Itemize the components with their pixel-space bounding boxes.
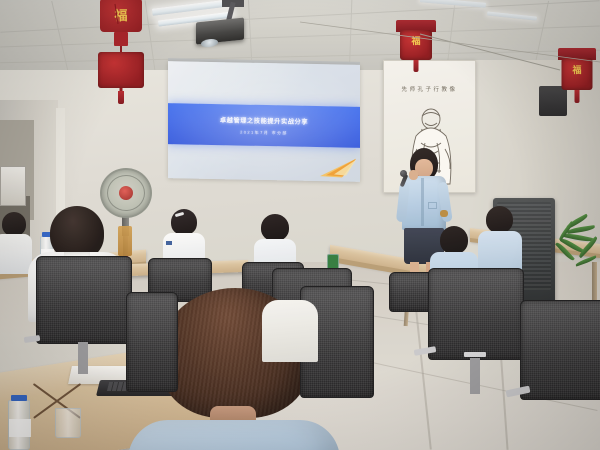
attendee-hair <box>440 226 468 254</box>
potted-plant <box>545 215 600 310</box>
fan-hub <box>119 186 133 200</box>
attendee-hair <box>2 212 26 236</box>
gold-triangle-accent <box>312 156 356 179</box>
mesh-office-chair <box>512 300 600 450</box>
attendee-behind-foreground <box>262 300 318 370</box>
wristwatch <box>440 210 448 217</box>
shirt-placket <box>421 178 424 226</box>
attendee-shirt <box>478 231 522 273</box>
left-whiteboard <box>0 166 26 206</box>
slide-subtitle-text: 2021年7月 市分部 <box>240 129 288 136</box>
attendee-hair <box>261 214 289 241</box>
attendee-far-right <box>478 206 520 266</box>
attendee-shirt <box>262 300 318 362</box>
shirt-pocket <box>428 202 437 209</box>
presenter-hand <box>409 170 418 180</box>
mesh-office-chair <box>26 256 138 416</box>
microphone-head <box>400 170 407 177</box>
attendee-hair <box>486 206 513 233</box>
training-room-photo: 卓越管理之技能提升实战分享 2021年7月 市分部 先师孔子行教像 <box>0 0 600 450</box>
attendee-shirt <box>128 420 340 450</box>
ceiling-wires <box>0 0 600 120</box>
badge <box>166 241 172 245</box>
mesh-office-chair <box>126 292 182 412</box>
